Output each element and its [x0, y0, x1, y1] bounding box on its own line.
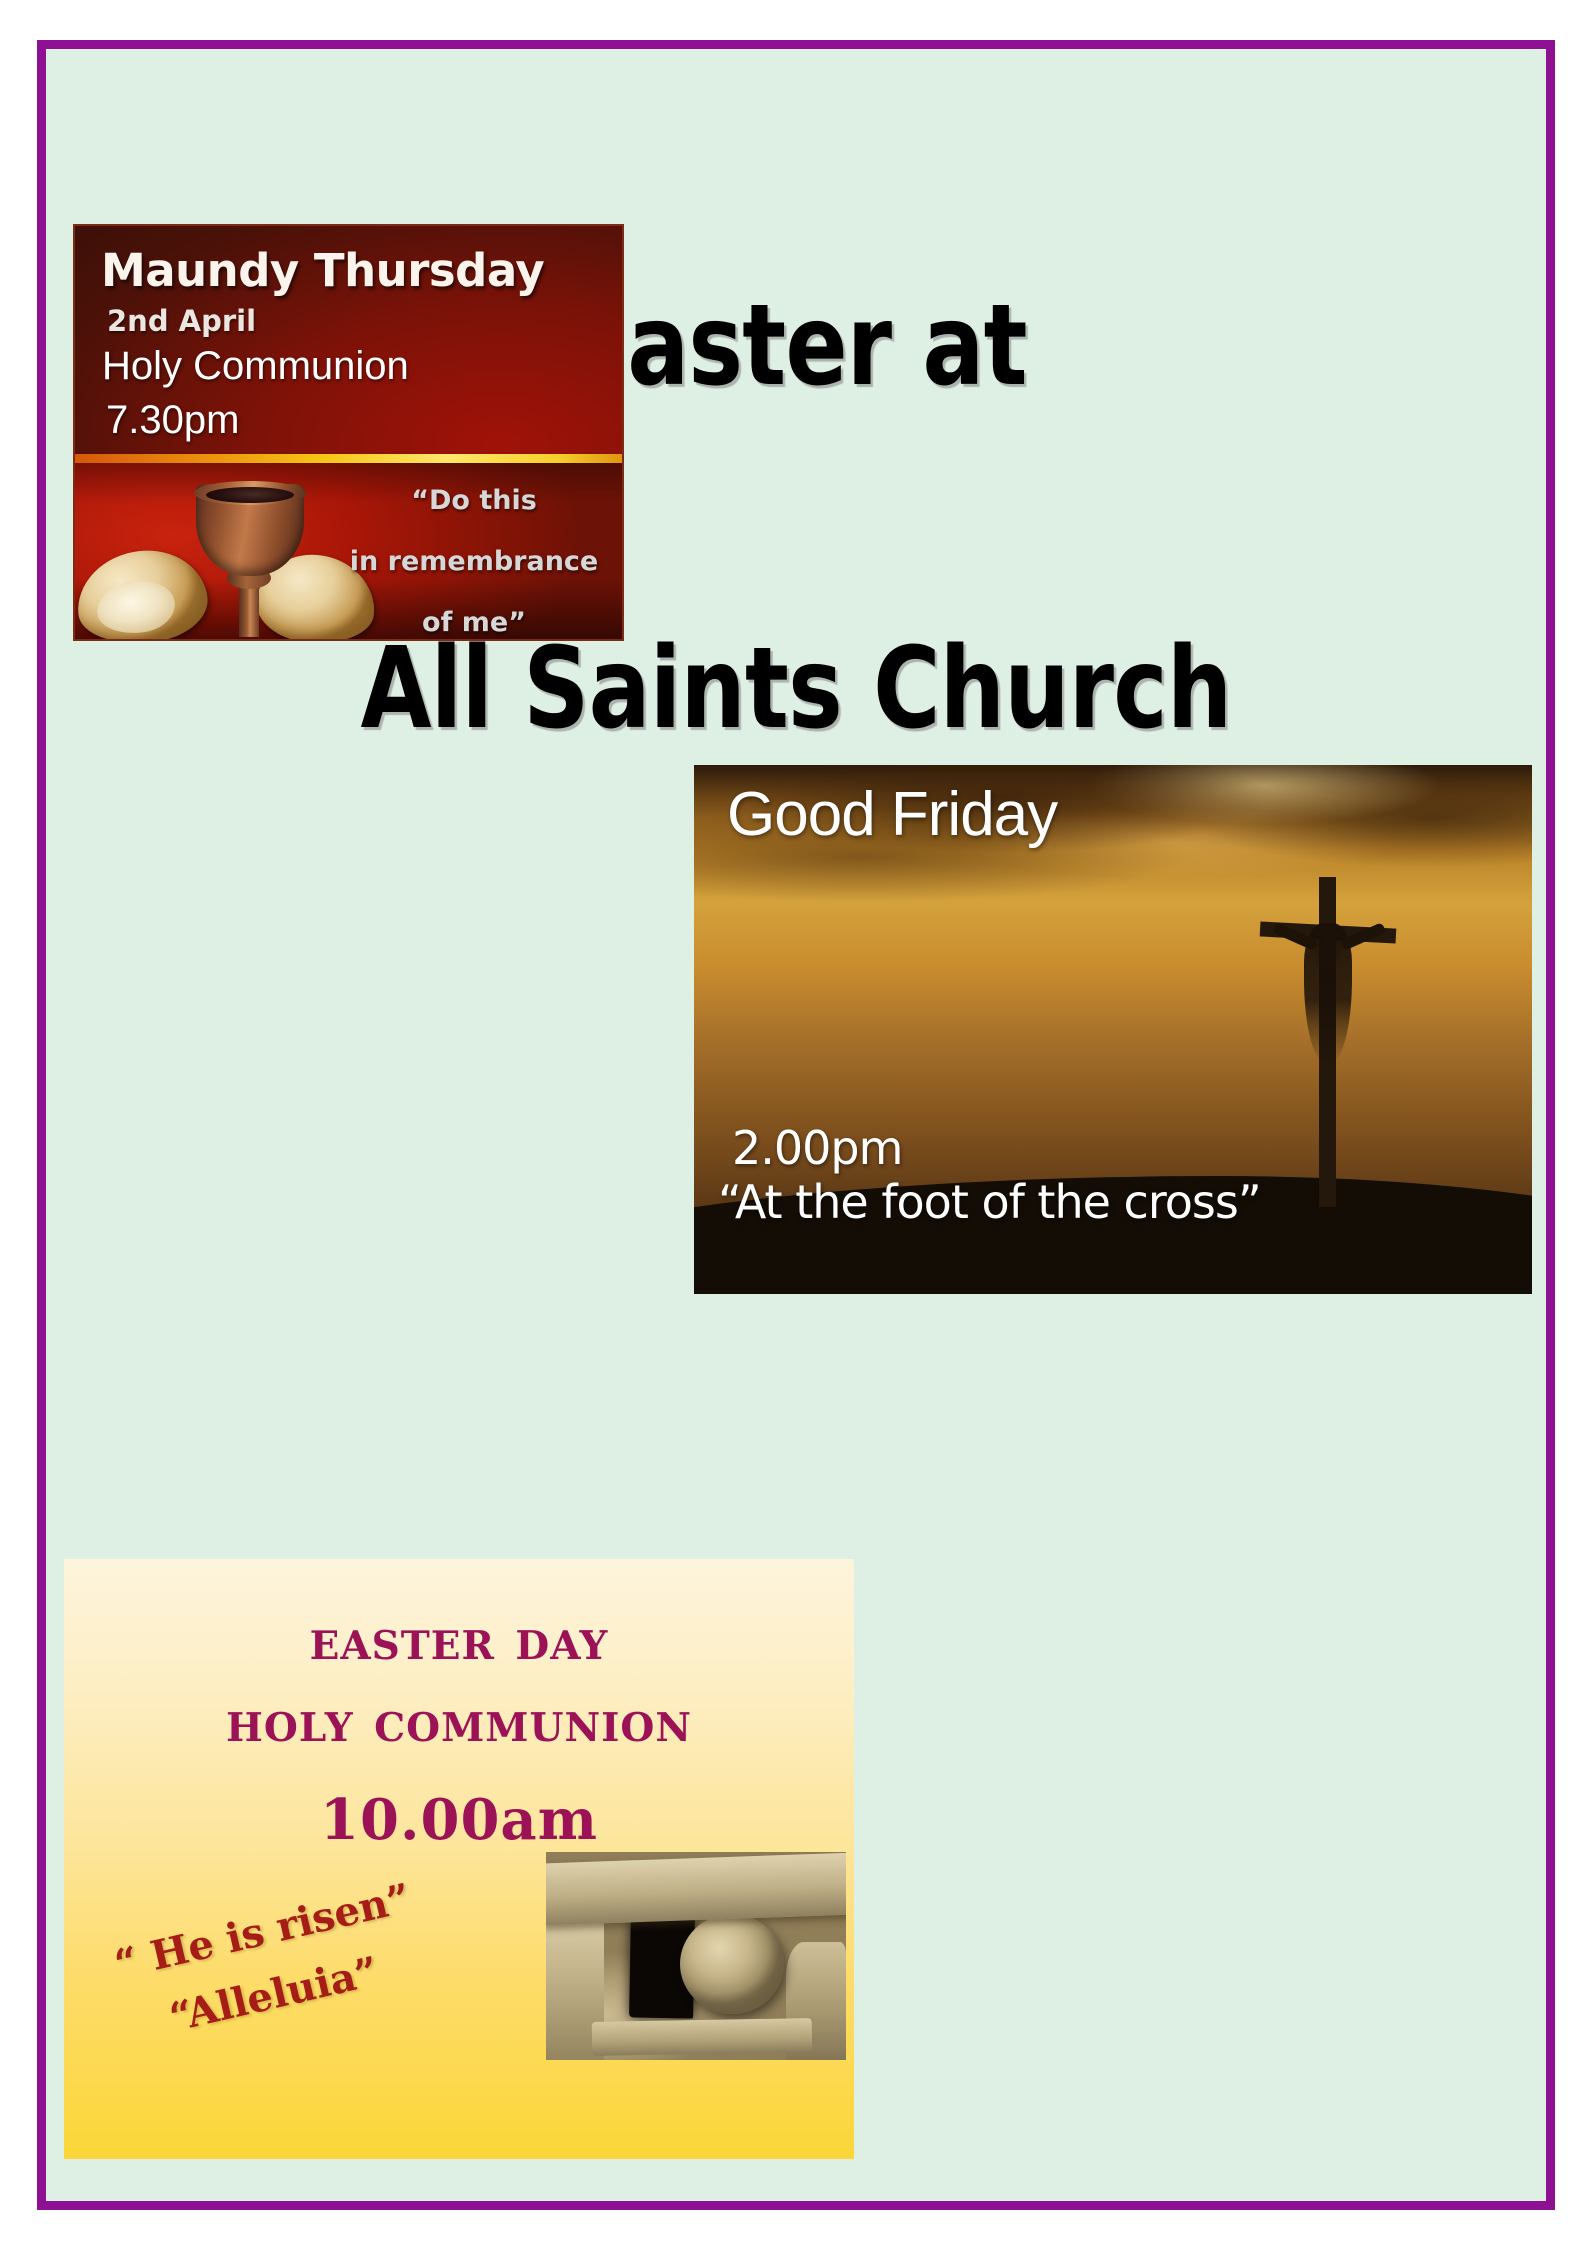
maundy-quote-line-3: of me” — [340, 593, 608, 642]
maundy-text-area: Maundy Thursday 2nd April Holy Communion… — [75, 226, 622, 454]
gold-divider-bar — [75, 454, 622, 463]
event-panel-maundy-thursday: Maundy Thursday 2nd April Holy Communion… — [73, 224, 624, 641]
communion-photo: “Do this in remembrance of me” — [75, 463, 622, 641]
poster-frame: Easter at All Saints Church Maundy Thurs… — [37, 40, 1555, 2210]
tomb-ledge — [592, 2018, 813, 2056]
maundy-quote: “Do this in remembrance of me” — [340, 471, 608, 641]
maundy-day-label: Maundy Thursday — [101, 244, 544, 297]
tomb-lintel — [546, 1852, 846, 1925]
good-friday-time-label: 2.00pm — [732, 1121, 902, 1175]
easter-day-label: Easter Day — [64, 1607, 854, 1673]
maundy-quote-line-2: in remembrance — [340, 532, 608, 593]
maundy-quote-line-1: “Do this — [340, 471, 608, 532]
empty-tomb-photo — [546, 1852, 846, 2060]
maundy-date-label: 2nd April — [107, 304, 256, 338]
poster-body: Easter at All Saints Church Maundy Thurs… — [46, 49, 1546, 2201]
title-line-2: All Saints Church — [181, 632, 1411, 746]
tomb-rolled-stone-icon — [680, 1914, 784, 2014]
chalice-wine-icon — [206, 487, 294, 503]
easter-service-label: Holy Communion — [64, 1689, 854, 1755]
maundy-time-label: 7.30pm — [106, 398, 239, 443]
event-panel-easter-day: Easter Day Holy Communion 10.00am “ He i… — [64, 1559, 854, 2159]
easter-time-label: 10.00am — [64, 1787, 854, 1853]
event-panel-good-friday: Good Friday 2.00pm “At the foot of the c… — [694, 765, 1532, 1294]
maundy-service-label: Holy Communion — [102, 344, 409, 389]
good-friday-quote: “At the foot of the cross” — [718, 1175, 1261, 1229]
dark-hill-base — [694, 1242, 1532, 1294]
good-friday-title: Good Friday — [727, 779, 1057, 850]
